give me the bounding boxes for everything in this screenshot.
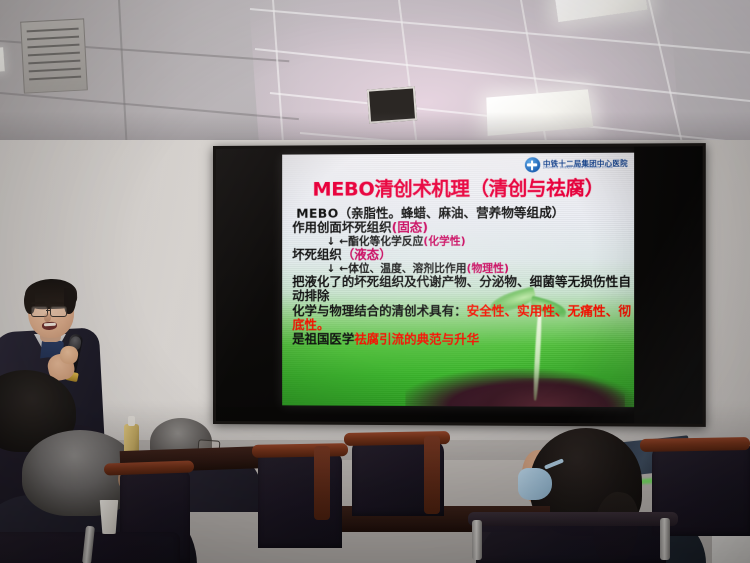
slide-line-8-seg-0: 是祖国医学	[292, 333, 354, 347]
slide-line-4-seg-1: （液态）	[342, 248, 392, 262]
projection-screen-surface: 中铁十二局集团中心医院 ZHONGTIE SHIERJU JITUAN ZHON…	[216, 146, 703, 424]
slide-line-4: 坏死组织（液态）	[292, 247, 635, 262]
slide-title: MEBO清创术机理（清创与祛腐）	[282, 173, 635, 202]
sprout-soil	[471, 378, 625, 407]
screen-unused-area	[634, 146, 703, 424]
slide-line-3-seg-1: (化学性)	[423, 235, 465, 247]
auditorium-chair[interactable]	[476, 520, 666, 563]
hospital-logo-text: 中铁十二局集团中心医院 ZHONGTIE SHIERJU JITUAN ZHON…	[543, 159, 628, 169]
slide-line-5-arrow: ↓ ←体位、温度、溶剂比作用(物理性)	[326, 262, 635, 275]
slide-line-7: 化学与物理结合的清创术具有：安全性、实用性、无痛性、彻底性。	[292, 304, 635, 334]
hospital-name-en: ZHONGTIE SHIERJU JITUAN ZHONGXIN YIYUAN	[543, 167, 628, 170]
slide-line-8-seg-1: 祛腐引流的典范与升华	[354, 333, 479, 347]
ceiling	[0, 0, 750, 152]
chair-armrest	[640, 437, 750, 452]
chair-armrest	[252, 443, 348, 458]
presenter-nose	[44, 313, 51, 322]
slide-line-1-seg-1: （亲脂性。蜂蜡、麻油、营养物等组成）	[339, 206, 565, 221]
slide-line-4-seg-0: 坏死组织	[292, 248, 342, 262]
face-mask-icon	[518, 468, 552, 500]
slide-line-5-seg-1: (物理性)	[467, 262, 509, 274]
slide-line-1: MEBO（亲脂性。蜂蜡、麻油、营养物等组成）	[296, 206, 635, 222]
slide-body: MEBO（亲脂性。蜂蜡、麻油、营养物等组成） 作用创面坏死组织(固态) ↓ ←酯…	[292, 206, 635, 348]
air-vent-grille	[20, 18, 88, 93]
slide-line-2: 作用创面坏死组织(固态)	[292, 220, 635, 235]
chair-backrest	[468, 512, 678, 526]
presentation-slide: 中铁十二局集团中心医院 ZHONGTIE SHIERJU JITUAN ZHON…	[282, 153, 635, 408]
slide-line-8: 是祖国医学祛腐引流的典范与升华	[292, 333, 635, 348]
lecture-hall-photo: 中铁十二局集团中心医院 ZHONGTIE SHIERJU JITUAN ZHON…	[0, 0, 750, 563]
chair-chrome-leg	[472, 520, 482, 560]
slide-line-5-seg-0: ↓ ←体位、温度、溶剂比作用	[326, 262, 466, 274]
chair-chrome-leg	[660, 518, 670, 560]
slide-line-2-seg-1: (固态)	[392, 221, 428, 235]
glasses-bridge	[46, 310, 50, 311]
slide-line-6: 把液化了的坏死组织及代谢产物、分泌物、细菌等无损伤性自动排除	[292, 275, 635, 304]
slide-line-3-seg-0: ↓ ←酯化等化学反应	[326, 235, 423, 247]
projection-screen[interactable]: 中铁十二局集团中心医院 ZHONGTIE SHIERJU JITUAN ZHON…	[213, 143, 706, 427]
glasses-icon	[50, 306, 67, 317]
medical-cross-icon	[524, 157, 539, 172]
slide-line-3-arrow: ↓ ←酯化等化学反应(化学性)	[326, 235, 635, 248]
chair-post	[424, 436, 440, 514]
hospital-logo: 中铁十二局集团中心医院 ZHONGTIE SHIERJU JITUAN ZHON…	[524, 157, 627, 173]
slide-line-2-seg-0: 作用创面坏死组织	[292, 221, 391, 235]
slide-line-7-seg-0: 化学与物理结合的清创术具有：	[292, 304, 466, 318]
slide-line-1-seg-0: MEBO	[296, 207, 338, 221]
chair-post	[314, 446, 330, 520]
